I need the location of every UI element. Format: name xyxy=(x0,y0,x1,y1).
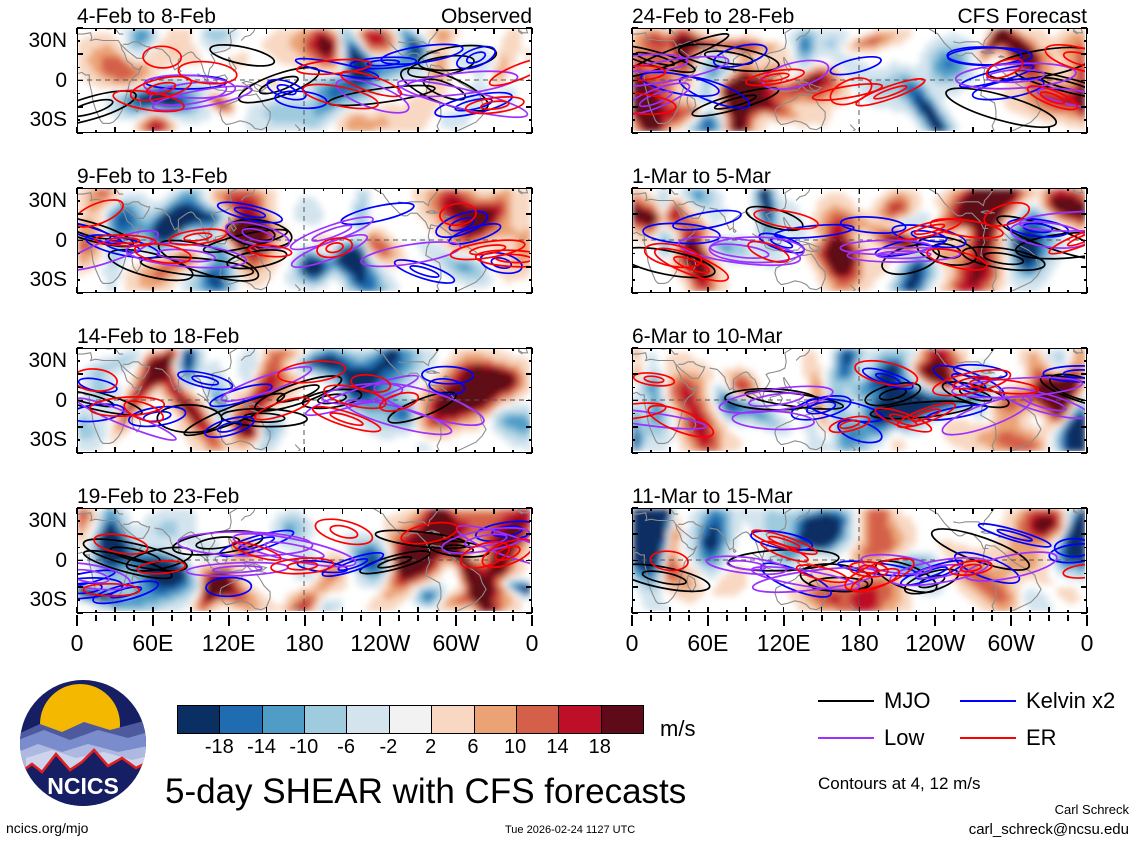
panel-title-p1: 4-Feb to 8-Feb xyxy=(77,6,216,27)
map-canvas xyxy=(633,29,1085,131)
right-tickmark xyxy=(877,615,879,621)
left-tickmark xyxy=(95,615,97,621)
left-tickmark xyxy=(285,615,287,621)
right-tickmark xyxy=(1086,615,1088,626)
right-tickmark xyxy=(764,615,766,621)
y-axis-label-30n-p1: 30N xyxy=(0,30,67,51)
right-tickmark xyxy=(934,615,936,626)
colorbar-segment-4 xyxy=(347,706,389,733)
map-canvas xyxy=(78,349,530,451)
right-tickmark xyxy=(707,615,709,626)
left-tickmark xyxy=(304,615,306,626)
legend-item-low: Low xyxy=(818,727,924,749)
legend-line-swatch-2 xyxy=(818,737,874,739)
footer-timestamp: Tue 2026-02-24 1127 UTC xyxy=(505,825,635,836)
y-axis-label-30n-p3: 30N xyxy=(0,350,67,371)
right-tickmark xyxy=(896,615,898,621)
right-tickmark xyxy=(953,615,955,621)
map-panel-p4[interactable] xyxy=(77,508,532,613)
left-tickmark xyxy=(436,615,438,621)
right-tickmark xyxy=(1048,615,1050,621)
right-tickmark xyxy=(915,615,917,621)
map-panel-p6[interactable] xyxy=(632,188,1087,293)
right-tickmark xyxy=(650,615,652,621)
footer-author: Carl Schreck xyxy=(1055,803,1129,816)
panel-title-p6: 1-Mar to 5-Mar xyxy=(632,166,771,187)
y-axis-label-0-p2: 0 xyxy=(0,230,67,251)
map-panel-p3[interactable] xyxy=(77,348,532,453)
right-tickmark xyxy=(688,615,690,621)
left-tickmark xyxy=(322,615,324,621)
left-tickmark xyxy=(152,615,154,626)
right-tickmark xyxy=(821,615,823,621)
colorbar-segment-9 xyxy=(559,706,601,733)
map-canvas xyxy=(78,29,530,131)
footer-email[interactable]: carl_schreck@ncsu.edu xyxy=(969,822,1129,837)
colorbar-segment-1 xyxy=(220,706,262,733)
column-header-observed: Observed xyxy=(377,6,532,27)
left-tickmark xyxy=(341,615,343,621)
legend-label-2: Low xyxy=(884,727,924,749)
colorbar-segment-6 xyxy=(432,706,474,733)
legend-label-3: ER xyxy=(1026,727,1057,749)
colorbar-segment-8 xyxy=(517,706,559,733)
right-tickmark xyxy=(745,615,747,621)
footer-site-link[interactable]: ncics.org/mjo xyxy=(6,821,88,835)
right-tickmark xyxy=(1029,615,1031,621)
left-tickmark xyxy=(190,615,192,621)
left-tickmark xyxy=(171,615,173,621)
y-axis-label-30s-p2: 30S xyxy=(0,269,67,290)
right-tickmark xyxy=(783,615,785,626)
column-header-forecast: CFS Forecast xyxy=(932,6,1087,27)
left-xtick-6: 0 xyxy=(487,632,577,655)
right-tickmark xyxy=(991,615,993,621)
map-panel-p5[interactable] xyxy=(632,28,1087,133)
legend-item-er: ER xyxy=(960,727,1057,749)
panel-title-p2: 9-Feb to 13-Feb xyxy=(77,166,228,187)
colorbar-segment-2 xyxy=(263,706,305,733)
left-tickmark xyxy=(360,615,362,621)
left-tickmark xyxy=(379,615,381,626)
panel-title-p7: 6-Mar to 10-Mar xyxy=(632,326,783,347)
legend-line-swatch-0 xyxy=(818,700,874,702)
y-axis-label-30s-p4: 30S xyxy=(0,589,67,610)
colorbar-units-label: m/s xyxy=(660,718,695,740)
map-panel-p2[interactable] xyxy=(77,188,532,293)
left-tickmark xyxy=(247,615,249,621)
y-axis-label-0-p4: 0 xyxy=(0,550,67,571)
map-canvas xyxy=(633,189,1085,291)
page-title: 5-day SHEAR with CFS forecasts xyxy=(165,774,686,809)
y-axis-label-0-p1: 0 xyxy=(0,70,67,91)
legend-line-swatch-3 xyxy=(960,737,1016,739)
colorbar-segment-7 xyxy=(475,706,517,733)
left-tickmark xyxy=(417,615,419,621)
left-tickmark xyxy=(133,615,135,621)
legend-label-0: MJO xyxy=(884,690,930,712)
map-panel-p7[interactable] xyxy=(632,348,1087,453)
colorbar-segment-10 xyxy=(602,706,643,733)
left-tickmark xyxy=(266,615,268,621)
panel-title-p4: 19-Feb to 23-Feb xyxy=(77,486,239,507)
map-panel-p1[interactable] xyxy=(77,28,532,133)
left-tickmark xyxy=(493,615,495,621)
contour-interval-note: Contours at 4, 12 m/s xyxy=(818,775,981,792)
right-tickmark xyxy=(972,615,974,621)
map-canvas xyxy=(633,349,1085,451)
colorbar-label-9: 18 xyxy=(570,737,630,757)
colorbar-segment-0 xyxy=(178,706,220,733)
ncics-logo: NCICS xyxy=(18,678,148,808)
right-tickmark xyxy=(802,615,804,621)
left-tickmark xyxy=(228,615,230,626)
logo-text: NCICS xyxy=(47,773,119,799)
map-canvas xyxy=(78,509,530,611)
left-tickmark xyxy=(209,615,211,621)
y-axis-label-30s-p1: 30S xyxy=(0,109,67,130)
legend-line-swatch-1 xyxy=(960,700,1016,702)
map-canvas xyxy=(633,509,1085,611)
right-xtick-6: 0 xyxy=(1042,632,1132,655)
left-tickmark xyxy=(114,615,116,621)
left-tickmark xyxy=(398,615,400,621)
right-tickmark xyxy=(631,615,633,626)
y-axis-label-0-p3: 0 xyxy=(0,390,67,411)
left-tickmark xyxy=(512,615,514,621)
right-tickmark xyxy=(859,615,861,626)
y-axis-label-30s-p3: 30S xyxy=(0,429,67,450)
legend-label-1: Kelvin x2 xyxy=(1026,690,1115,712)
left-tickmark xyxy=(531,615,533,626)
right-tickmark xyxy=(1067,615,1069,621)
y-axis-label-30n-p4: 30N xyxy=(0,510,67,531)
map-panel-p8[interactable] xyxy=(632,508,1087,613)
right-tickmark xyxy=(840,615,842,621)
colorbar-segment-3 xyxy=(305,706,347,733)
panel-title-p8: 11-Mar to 15-Mar xyxy=(632,486,793,507)
left-tickmark xyxy=(76,615,78,626)
legend-item-kelvin-x2: Kelvin x2 xyxy=(960,690,1115,712)
colorbar xyxy=(177,705,644,734)
y-axis-label-30n-p2: 30N xyxy=(0,190,67,211)
right-tickmark xyxy=(726,615,728,621)
right-tickmark xyxy=(1010,615,1012,626)
left-tickmark xyxy=(474,615,476,621)
right-tickmark xyxy=(669,615,671,621)
left-tickmark xyxy=(455,615,457,626)
colorbar-segment-5 xyxy=(390,706,432,733)
legend-item-mjo: MJO xyxy=(818,690,930,712)
map-canvas xyxy=(78,189,530,291)
panel-title-p5: 24-Feb to 28-Feb xyxy=(632,6,794,27)
panel-title-p3: 14-Feb to 18-Feb xyxy=(77,326,239,347)
